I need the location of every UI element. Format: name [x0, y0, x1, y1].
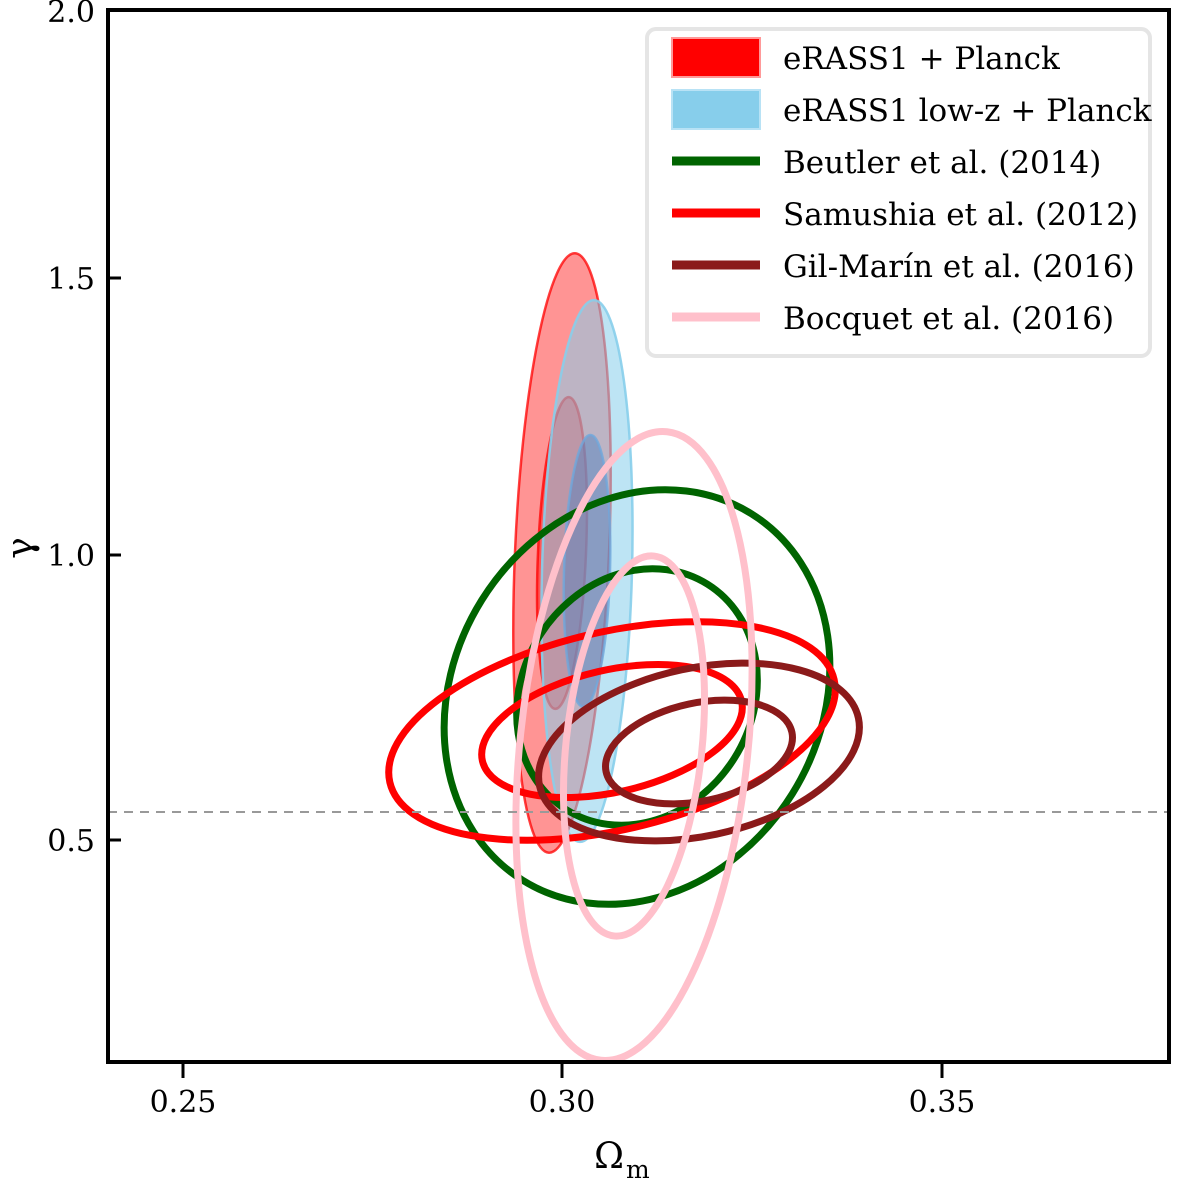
legend-label-bocquet-2016: Bocquet et al. (2016): [783, 301, 1114, 337]
x-tick-label-0-30: 0.30: [529, 1085, 596, 1120]
legend-label-erass1-planck: eRASS1 + Planck: [783, 41, 1060, 77]
y-tick-label-1-5: 1.5: [47, 262, 95, 297]
x-tick-label-0-25: 0.25: [150, 1085, 217, 1120]
x-axis-title-subscript: m: [626, 1155, 650, 1184]
x-axis-title: Ω: [594, 1136, 624, 1177]
legend-swatch-erass1-planck: [672, 38, 760, 77]
y-tick-label-0-5: 0.5: [47, 824, 95, 859]
legend-entry-erass1-lowz-planck[interactable]: eRASS1 low-z + Planck: [672, 90, 1152, 129]
y-tick-label-2-0: 2.0: [47, 0, 95, 30]
legend-label-beutler-2014: Beutler et al. (2014): [783, 145, 1101, 181]
legend-label-erass1-lowz-planck: eRASS1 low-z + Planck: [783, 93, 1152, 129]
contour-plot-svg: 2.0 1.5 1.0 0.5 0.25 0.30 0.35 γ Ω m eRA…: [0, 0, 1200, 1185]
y-axis-title: γ: [0, 537, 41, 559]
x-tick-label-0-35: 0.35: [909, 1085, 976, 1120]
legend: eRASS1 + Planck eRASS1 low-z + Planck Be…: [647, 29, 1152, 356]
y-tick-label-1-0: 1.0: [47, 539, 95, 574]
legend-label-gilmarin-2016: Gil-Marín et al. (2016): [783, 249, 1135, 285]
legend-swatch-erass1-lowz-planck: [672, 90, 760, 129]
x-axis-ticks: [183, 1062, 942, 1078]
legend-entry-erass1-planck[interactable]: eRASS1 + Planck: [672, 38, 1060, 77]
legend-label-samushia-2012: Samushia et al. (2012): [783, 197, 1138, 233]
figure-canvas: 2.0 1.5 1.0 0.5 0.25 0.30 0.35 γ Ω m eRA…: [0, 0, 1200, 1185]
